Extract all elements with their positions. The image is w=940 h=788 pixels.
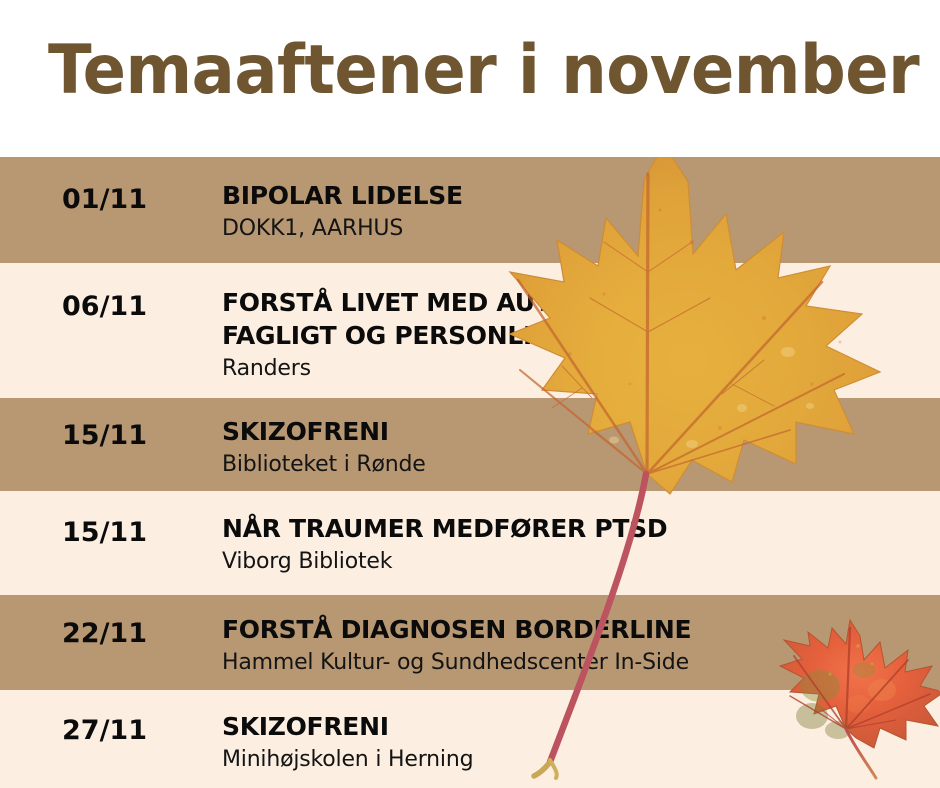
event-body: FORSTÅ DIAGNOSEN BORDERLINE Hammel Kultu…: [222, 613, 930, 678]
list-item[interactable]: 01/11 BIPOLAR LIDELSE DOKK1, AARHUS: [0, 157, 940, 263]
event-title: BIPOLAR LIDELSE: [222, 179, 930, 212]
event-title: NÅR TRAUMER MEDFØRER PTSD: [222, 512, 930, 545]
event-date: 22/11: [62, 618, 147, 649]
list-item[interactable]: 27/11 SKIZOFRENI Minihøjskolen i Herning: [0, 690, 940, 788]
event-venue: Biblioteket i Rønde: [222, 450, 930, 480]
event-venue: Viborg Bibliotek: [222, 547, 930, 577]
event-body: SKIZOFRENI Biblioteket i Rønde: [222, 415, 930, 480]
schedule-list: 01/11 BIPOLAR LIDELSE DOKK1, AARHUS 06/1…: [0, 157, 940, 788]
event-date: 01/11: [62, 184, 147, 215]
event-venue: Minihøjskolen i Herning: [222, 745, 930, 775]
event-venue: Hammel Kultur- og Sundhedscenter In-Side: [222, 648, 930, 678]
list-item[interactable]: 15/11 SKIZOFRENI Biblioteket i Rønde: [0, 398, 940, 491]
event-title: SKIZOFRENI: [222, 710, 930, 743]
poster-canvas: Temaaftener i november 01/11 BIPOLAR LID…: [0, 0, 940, 788]
event-title: FORSTÅ LIVET MED AUTISME UD FRA ET: [222, 286, 930, 319]
event-title: FORSTÅ DIAGNOSEN BORDERLINE: [222, 613, 930, 646]
event-title: SKIZOFRENI: [222, 415, 930, 448]
event-body: NÅR TRAUMER MEDFØRER PTSD Viborg Bibliot…: [222, 512, 930, 577]
list-item[interactable]: 22/11 FORSTÅ DIAGNOSEN BORDERLINE Hammel…: [0, 595, 940, 690]
event-date: 06/11: [62, 291, 147, 322]
event-date: 27/11: [62, 715, 147, 746]
event-date: 15/11: [62, 420, 147, 451]
list-item[interactable]: 06/11 FORSTÅ LIVET MED AUTISME UD FRA ET…: [0, 263, 940, 398]
event-venue: DOKK1, AARHUS: [222, 214, 930, 244]
event-body: SKIZOFRENI Minihøjskolen i Herning: [222, 710, 930, 775]
event-body: FORSTÅ LIVET MED AUTISME UD FRA ET FAGLI…: [222, 286, 930, 384]
event-date: 15/11: [62, 517, 147, 548]
event-body: BIPOLAR LIDELSE DOKK1, AARHUS: [222, 179, 930, 244]
event-venue: Randers: [222, 354, 930, 384]
event-title-line2: FAGLIGT OG PERSONLIGT PERSPEKTIV: [222, 319, 930, 352]
poster-header: Temaaftener i november: [0, 0, 940, 157]
list-item[interactable]: 15/11 NÅR TRAUMER MEDFØRER PTSD Viborg B…: [0, 491, 940, 595]
page-title: Temaaftener i november: [48, 28, 919, 114]
